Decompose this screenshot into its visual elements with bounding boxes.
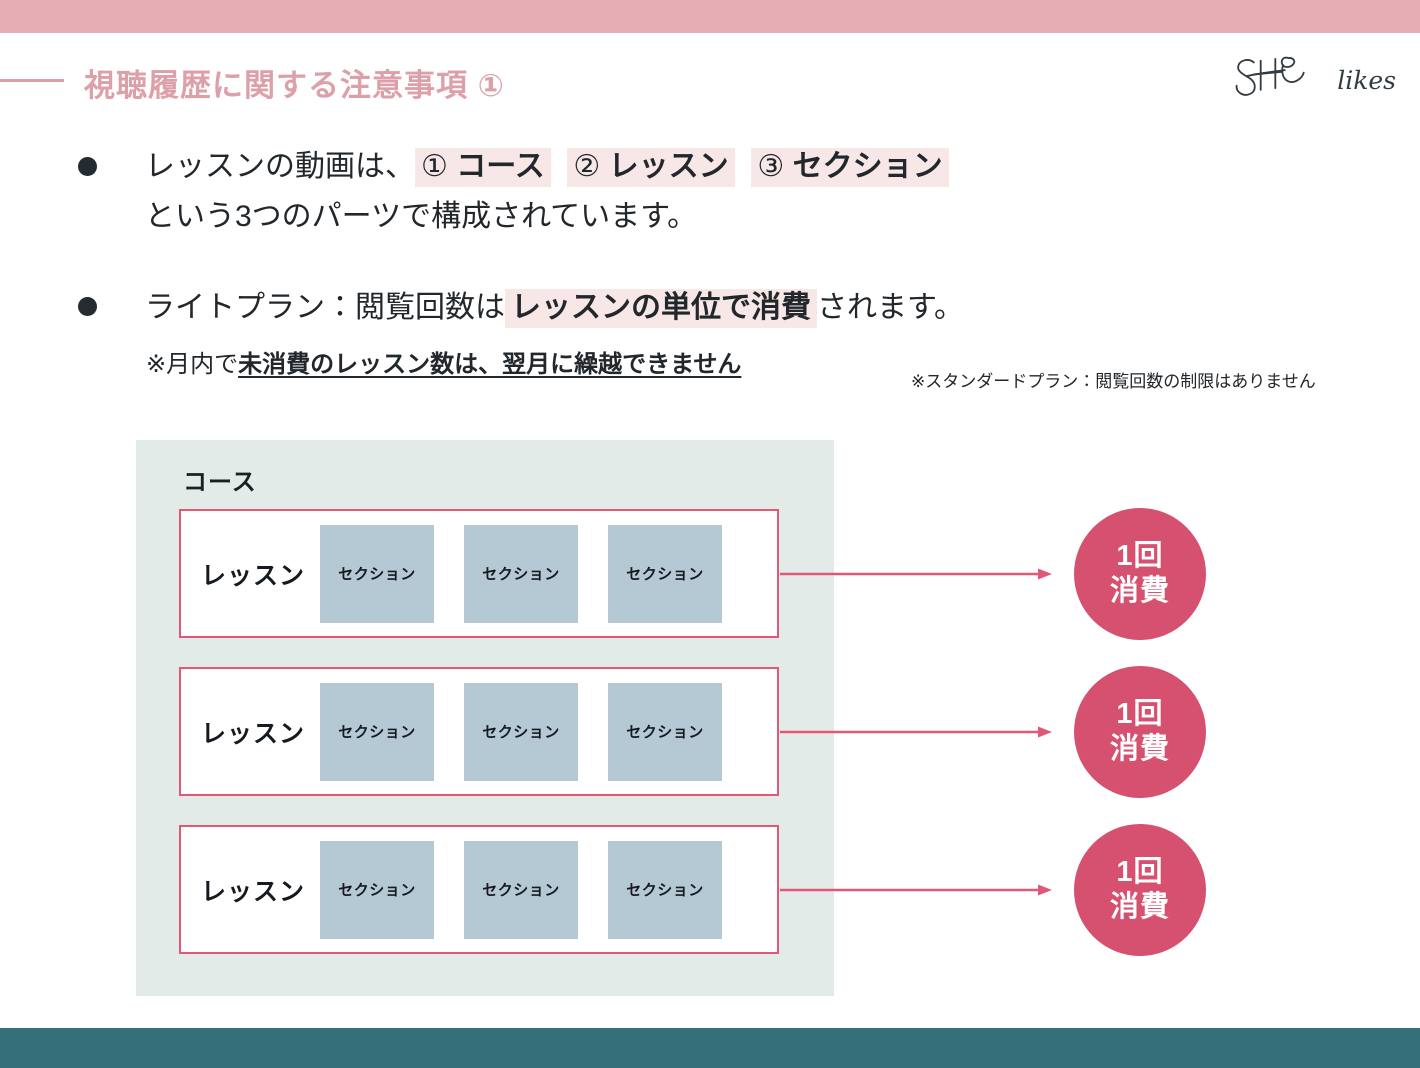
- consumption-count: 1回: [1116, 539, 1163, 574]
- section-label: セクション: [338, 721, 416, 742]
- lesson-row: レッスン セクション セクション セクション: [179, 825, 779, 954]
- arrow-right-icon: [780, 883, 1052, 897]
- arrow-right-icon: [780, 725, 1052, 739]
- section-label: セクション: [338, 879, 416, 900]
- section-box: セクション: [320, 525, 434, 623]
- bullet-2-line-1: ライトプラン：閲覧回数はレッスンの単位で消費されます。: [145, 283, 964, 333]
- arrow-right-icon: [780, 567, 1052, 581]
- bullet-1-line-1: レッスンの動画は、① コース ② レッスン ③ セクション: [145, 142, 949, 192]
- section-label: セクション: [482, 721, 560, 742]
- lesson-row: レッスン セクション セクション セクション: [179, 667, 779, 796]
- chip-course-label: コース: [456, 150, 545, 183]
- logo-likes-word: likes: [1337, 66, 1396, 95]
- flow-arrow: [780, 725, 1052, 739]
- bullet-marker-1: [78, 157, 97, 176]
- section-box: セクション: [320, 841, 434, 939]
- note-lead-text: ※月内で: [146, 351, 238, 378]
- consumption-word: 消費: [1110, 890, 1170, 925]
- flow-arrow: [780, 567, 1052, 581]
- consumption-badge: 1回 消費: [1074, 666, 1206, 798]
- section-box: セクション: [608, 683, 722, 781]
- consumption-word: 消費: [1110, 732, 1170, 767]
- bullet-2-trail-text: されます。: [817, 291, 964, 324]
- bullet-1-line-2: という3つのパーツで構成されています。: [145, 192, 697, 242]
- flow-arrow: [780, 883, 1052, 897]
- lesson-row: レッスン セクション セクション セクション: [179, 509, 779, 638]
- section-box: セクション: [608, 525, 722, 623]
- section-box: セクション: [320, 683, 434, 781]
- she-script-logo-icon: [1228, 46, 1331, 108]
- lesson-label: レッスン: [201, 556, 305, 592]
- consumption-count: 1回: [1116, 697, 1163, 732]
- bullet-1-lead-text: レッスンの動画は、: [145, 150, 415, 183]
- note-underlined-text: 未消費のレッスン数は、翌月に繰越できません: [238, 351, 741, 378]
- section-label: セクション: [626, 721, 704, 742]
- consumption-badge: 1回 消費: [1074, 508, 1206, 640]
- chip-lesson-label: レッスン: [609, 150, 729, 183]
- bottom-decorative-bar: [0, 1028, 1420, 1068]
- bullet-marker-2: [78, 297, 97, 316]
- section-box: セクション: [608, 841, 722, 939]
- section-label: セクション: [626, 563, 704, 584]
- lesson-label: レッスン: [201, 714, 305, 750]
- bullet-2-note: ※月内で未消費のレッスン数は、翌月に繰越できません: [146, 348, 741, 382]
- section-box: セクション: [464, 683, 578, 781]
- section-label: セクション: [482, 879, 560, 900]
- page-title: 視聴履歴に関する注意事項 ①: [84, 60, 505, 105]
- section-label: セクション: [338, 563, 416, 584]
- title-rule: [0, 79, 64, 82]
- top-decorative-bar: [0, 0, 1420, 33]
- chip-section-number: ③: [757, 150, 784, 183]
- chip-lesson-number: ②: [573, 150, 600, 183]
- chip-section-label: セクション: [793, 150, 943, 183]
- lesson-label: レッスン: [201, 872, 305, 908]
- she-likes-logo: likes: [1228, 46, 1396, 108]
- chip-course-number: ①: [421, 150, 448, 183]
- bullet-2-highlight: レッスンの単位で消費: [505, 289, 817, 328]
- chip-lesson: ② レッスン: [567, 148, 734, 187]
- section-box: セクション: [464, 525, 578, 623]
- section-label: セクション: [626, 879, 704, 900]
- section-label: セクション: [482, 563, 560, 584]
- consumption-word: 消費: [1110, 574, 1170, 609]
- bullet-2-lead-text: ライトプラン：閲覧回数は: [145, 291, 505, 324]
- chip-section: ③ セクション: [751, 148, 948, 187]
- course-label: コース: [183, 462, 257, 497]
- section-box: セクション: [464, 841, 578, 939]
- standard-plan-note: ※スタンダードプラン：閲覧回数の制限はありません: [911, 367, 1316, 392]
- consumption-badge: 1回 消費: [1074, 824, 1206, 956]
- chip-course: ① コース: [415, 148, 551, 187]
- consumption-count: 1回: [1116, 855, 1163, 890]
